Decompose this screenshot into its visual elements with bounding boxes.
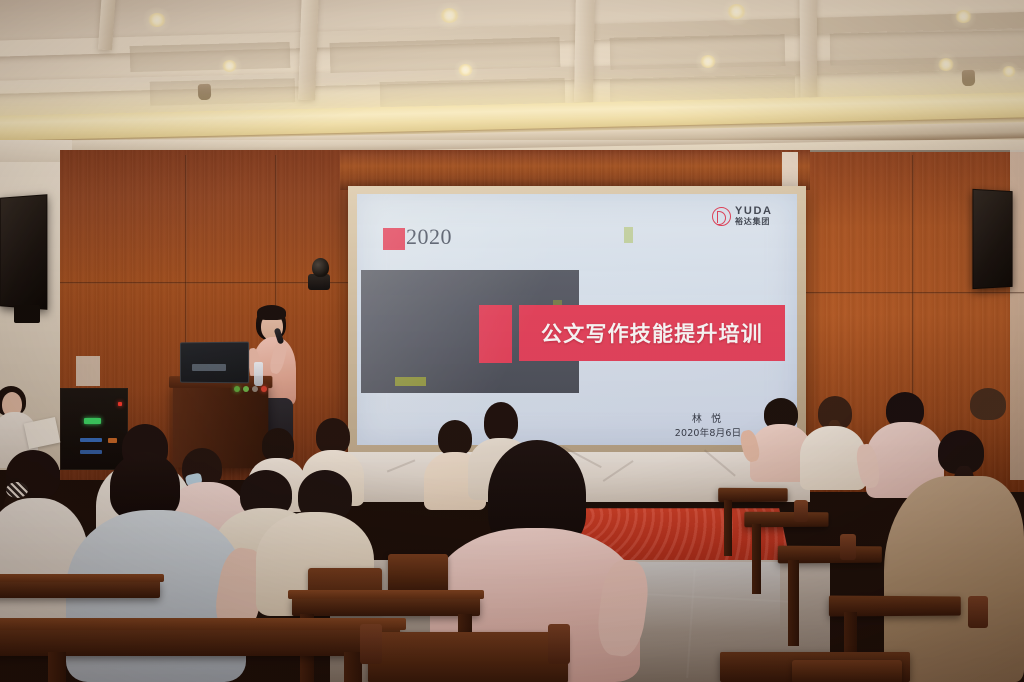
slide-year-label: 2020	[406, 224, 452, 250]
ceiling-cell-2	[330, 37, 561, 73]
ceiling-beam-v3	[800, 0, 818, 102]
conference-hall-photo: 2020 公文写作技能提升培训 YUDA 裕达集团 林 悦 2020年8月6日	[0, 0, 1024, 682]
desk-front-wide-top	[0, 618, 406, 630]
desk-center-1-top	[288, 590, 484, 599]
podium-led-green	[234, 386, 240, 392]
seat-arm-right-1	[794, 500, 808, 522]
av-led-blue-2	[80, 450, 102, 454]
slide-green-accent-lower	[395, 377, 426, 386]
av-led-red	[118, 402, 122, 406]
slide-title-bar: 公文写作技能提升培训	[519, 305, 785, 361]
podium-led-green2	[243, 386, 249, 392]
podium-led-gray	[252, 386, 258, 392]
desk-front-leg-a	[48, 652, 66, 682]
av-equipment-rack	[60, 388, 128, 470]
downlight-1	[148, 13, 166, 27]
seat-arm-front-center-r	[548, 624, 570, 664]
wall-wood-center-above-screen	[340, 150, 810, 190]
logo-text-group: YUDA 裕达集团	[735, 206, 773, 226]
podium-led-red	[261, 386, 267, 392]
ceiling-cell-1	[130, 42, 291, 72]
wall-camera-icon	[312, 258, 329, 277]
av-led-green	[84, 418, 101, 424]
wall-speaker-left	[0, 194, 47, 310]
laptop-screen-glow	[192, 364, 226, 371]
projection-screen: 2020 公文写作技能提升培训 YUDA 裕达集团 林 悦 2020年8月6日	[348, 186, 806, 454]
yuda-circle-mark-icon	[712, 207, 731, 226]
seat-arm-front-center	[360, 624, 382, 664]
audience-near-left-scrunchie	[6, 482, 28, 498]
seatback-front-center	[368, 632, 568, 682]
seatback-bottom-right	[792, 660, 902, 682]
desk-right-2-leg	[752, 524, 761, 594]
downlight-2	[440, 8, 459, 23]
downlight-4	[222, 60, 237, 72]
seat-arm-right-2	[840, 534, 856, 560]
ceiling-cell-lower-1	[150, 78, 296, 106]
downlight-6	[700, 55, 716, 68]
audience-far-4-hair	[262, 428, 294, 462]
laptop	[180, 342, 249, 384]
av-led-amber	[108, 438, 117, 443]
seatback-center-1	[388, 554, 448, 592]
downlight-5	[458, 64, 473, 76]
av-notice-paper	[76, 356, 100, 386]
audience-far-1-hair	[438, 420, 472, 456]
ceiling-beam-v2	[574, 0, 595, 102]
presenter-hair-front	[257, 305, 286, 320]
ceiling-fixture-left	[198, 84, 212, 100]
slide-year-square	[383, 228, 405, 250]
slide-logo: YUDA 裕达集团	[712, 206, 773, 226]
audience-far-2-hair	[484, 402, 518, 442]
audience-right-4-hair	[970, 388, 1006, 420]
seat-arm-right-3	[968, 596, 988, 628]
downlight-8	[955, 10, 972, 23]
ceiling-fixture-right	[962, 70, 976, 86]
desk-left-1-top	[0, 574, 164, 582]
downlight-9	[1002, 66, 1016, 77]
av-led-blue-1	[80, 438, 102, 442]
logo-english-label: YUDA	[735, 206, 773, 217]
ceiling-cell-4	[830, 30, 1024, 65]
desk-center-1	[292, 596, 480, 616]
downlight-3	[727, 4, 746, 19]
speaker-left-bracket	[14, 305, 40, 323]
slide-surface: 2020 公文写作技能提升培训 YUDA 裕达集团 林 悦 2020年8月6日	[357, 194, 797, 445]
desk-left-1	[0, 580, 160, 598]
desk-right-1-leg	[724, 500, 732, 556]
wall-speaker-right	[972, 189, 1012, 289]
downlight-7	[938, 58, 954, 71]
audience-far-3-hair	[316, 418, 350, 454]
slide-title-text: 公文写作技能提升培训	[541, 318, 763, 348]
slide-presenter-name: 林 悦	[653, 412, 763, 427]
desk-right-3-leg	[788, 560, 799, 646]
logo-chinese-label: 裕达集团	[735, 218, 773, 226]
slide-red-block	[479, 305, 512, 363]
water-bottle	[254, 362, 263, 386]
slide-green-accent-top	[624, 227, 633, 243]
